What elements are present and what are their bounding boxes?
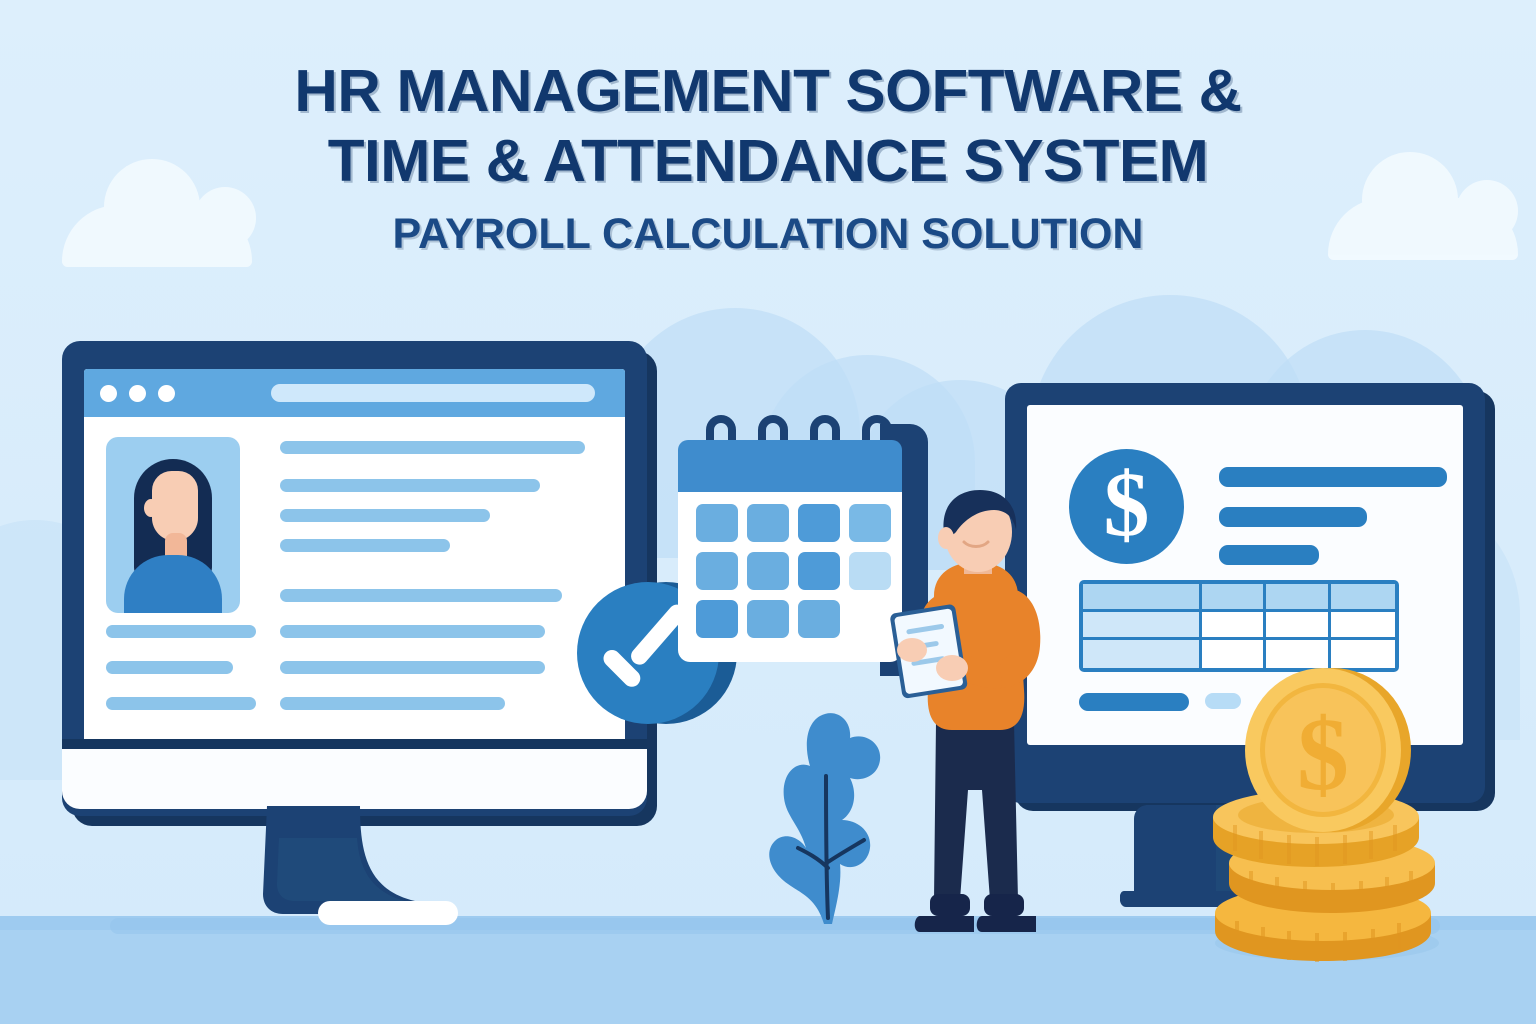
table-row-label-cell	[1083, 612, 1202, 640]
table-header-cell	[1266, 584, 1330, 612]
profile-side-row	[106, 661, 233, 674]
table-value-cell	[1331, 612, 1395, 640]
payroll-table	[1079, 580, 1399, 672]
payroll-summary-bar	[1219, 507, 1367, 527]
address-bar-input[interactable]	[271, 384, 595, 402]
calendar-day-cell[interactable]	[798, 552, 840, 590]
payroll-total-bar	[1079, 693, 1189, 711]
profile-side-row	[106, 625, 256, 638]
maximize-dot-icon[interactable]	[158, 385, 175, 402]
calendar-header	[678, 440, 902, 492]
table-value-cell	[1266, 640, 1330, 668]
calendar-day-cell[interactable]	[747, 600, 789, 638]
coin-dollar-symbol: $	[1297, 697, 1349, 812]
payroll-summary-bar	[1219, 467, 1447, 487]
payroll-summary-bar	[1219, 545, 1319, 565]
calendar-day-cell[interactable]	[798, 504, 840, 542]
profile-field-row	[280, 697, 505, 710]
employee-profile-monitor	[62, 341, 647, 816]
profile-field-row	[280, 625, 545, 638]
table-value-cell	[1202, 640, 1266, 668]
table-value-cell	[1331, 640, 1395, 668]
table-header-cell	[1083, 584, 1202, 612]
heading-line-2: TIME & ATTENDANCE SYSTEM	[0, 126, 1536, 196]
calendar-day-grid	[696, 504, 891, 638]
calendar-day-cell[interactable]	[747, 552, 789, 590]
calendar-day-cell[interactable]	[849, 552, 891, 590]
profile-field-row	[280, 589, 562, 602]
profile-field-row	[392, 509, 490, 522]
heading-line-1: HR MANAGEMENT SOFTWARE &	[0, 56, 1536, 126]
calendar-body	[678, 492, 902, 662]
table-header-cell	[1202, 584, 1266, 612]
avatar-face	[152, 471, 198, 541]
table-value-cell	[1266, 612, 1330, 640]
profile-page	[84, 417, 625, 749]
monitor-foot-left	[318, 901, 458, 925]
calendar-day-cell[interactable]	[696, 600, 738, 638]
calendar-day-cell[interactable]	[849, 600, 891, 638]
dollar-badge-icon: $	[1069, 449, 1184, 564]
illustration-canvas: HR MANAGEMENT SOFTWARE & TIME & ATTENDAN…	[0, 0, 1536, 1024]
gold-coin-stack: $	[1205, 665, 1455, 965]
profile-side-row	[106, 697, 256, 710]
calendar-day-cell[interactable]	[696, 504, 738, 542]
monitor-screen	[84, 369, 625, 749]
hero-heading-group: HR MANAGEMENT SOFTWARE & TIME & ATTENDAN…	[0, 56, 1536, 264]
profile-field-row	[280, 661, 545, 674]
table-row-label-cell	[1083, 640, 1202, 668]
avatar-ear	[144, 499, 158, 517]
table-header-cell	[1331, 584, 1395, 612]
calendar-day-cell[interactable]	[849, 504, 891, 542]
close-dot-icon[interactable]	[100, 385, 117, 402]
heading-subtitle: PAYROLL CALCULATION SOLUTION	[0, 204, 1536, 264]
calendar-day-cell[interactable]	[798, 600, 840, 638]
profile-field-row	[392, 479, 540, 492]
table-value-cell	[1202, 612, 1266, 640]
calendar-day-cell[interactable]	[747, 504, 789, 542]
avatar	[106, 437, 240, 613]
monitor-chin	[62, 749, 647, 809]
decorative-leaf-plant	[762, 662, 892, 924]
minimize-dot-icon[interactable]	[129, 385, 146, 402]
dollar-symbol: $	[1104, 458, 1150, 550]
browser-chrome	[84, 369, 625, 417]
window-controls[interactable]	[100, 385, 175, 402]
profile-field-row	[392, 539, 450, 552]
profile-field-row	[280, 441, 585, 454]
calendar-day-cell[interactable]	[696, 552, 738, 590]
hr-staff-figure	[890, 490, 1060, 962]
